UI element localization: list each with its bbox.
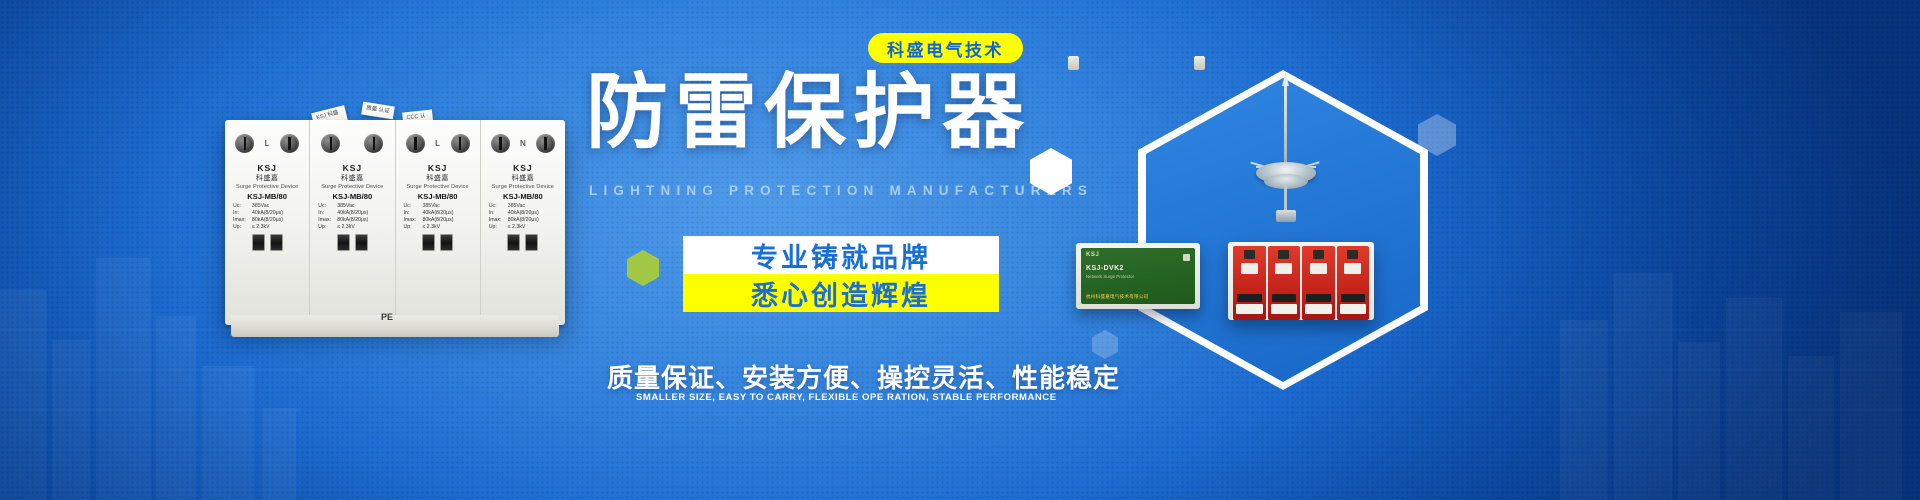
spec-key: In: <box>233 210 250 217</box>
surge-protector-rail: L KSJ 科盛嘉 Surge Protective Device KSJ-MB… <box>225 120 565 325</box>
indicator-window <box>270 234 283 251</box>
replace-warning: RED TO BE REPLACED <box>234 316 301 321</box>
spd-module: KSJ 科盛嘉 Surge Protective Device KSJ-MB/8… <box>310 120 395 325</box>
spec-row: Up:≤ 2.3kV <box>318 224 389 231</box>
brand-logo: KSJ <box>343 163 363 173</box>
pole-screw-icon <box>1313 250 1324 259</box>
brand-name-cn: 科盛嘉 <box>341 173 364 183</box>
screw-terminal-icon <box>235 134 254 153</box>
spd-module: L KSJ 科盛嘉 Surge Protective Device KSJ-MB… <box>396 120 481 325</box>
spec-row: Up:≤ 2.3kV <box>233 224 304 231</box>
spec-row: Uc:385Vac <box>318 203 389 210</box>
model-number: KSJ-MB/80 <box>503 192 543 201</box>
terminal-row <box>315 126 389 160</box>
replace-warning: RED TO BE REPLACED <box>489 316 556 321</box>
slogan-line-2: 悉心创造辉煌 <box>683 274 999 312</box>
indicator-window-group <box>252 234 283 251</box>
signal-box-subtitle: Network Surge Protector <box>1086 274 1190 279</box>
spec-value: 80kA(8/20μs) <box>252 217 283 224</box>
replace-warning: RED TO BE REPLACED <box>404 316 471 321</box>
device-type-label: Surge Protective Device <box>321 184 383 190</box>
model-number: KSJ-MB/80 <box>418 192 458 201</box>
mounting-ear-left <box>1068 56 1079 70</box>
indicator-window <box>252 234 265 251</box>
spec-value: 40kA(8/20μs) <box>423 210 454 217</box>
spec-list: Uc:385Vac In:40kA(8/20μs) Imax:80kA(8/20… <box>401 203 475 230</box>
device-type-label: Surge Protective Device <box>406 184 468 190</box>
spec-row: Up:≤ 2.3kV <box>404 224 475 231</box>
spd-module: N KSJ 科盛嘉 Surge Protective Device KSJ-MB… <box>481 120 565 325</box>
connector-pin-icon <box>1183 254 1190 261</box>
pole-base-bar <box>1271 304 1298 314</box>
spec-value: ≤ 2.3kV <box>337 224 355 231</box>
spec-row: In:40kA(8/20μs) <box>489 210 560 217</box>
terminal-label: L <box>265 139 270 148</box>
indicator-window <box>440 234 453 251</box>
signal-surge-protector-box: KSJ KSJ-DVK2 Network Surge Protector 杭州科… <box>1076 243 1200 309</box>
right-product-hexagon-group: KSJ KSJ-DVK2 Network Surge Protector 杭州科… <box>1020 30 1580 470</box>
spec-value: 40kA(8/20μs) <box>252 210 283 217</box>
spec-key: Imax: <box>233 217 250 224</box>
pole-window <box>1272 294 1297 302</box>
indicator-window <box>525 234 538 251</box>
red-spd-pole <box>1268 246 1301 320</box>
screw-terminal-icon <box>364 134 383 153</box>
spec-list: Uc:385Vac In:40kA(8/20μs) Imax:80kA(8/20… <box>230 203 304 230</box>
spec-row: In:40kA(8/20μs) <box>318 210 389 217</box>
indicator-window <box>337 234 350 251</box>
pole-label-plate <box>1241 263 1258 274</box>
pole-window <box>1306 294 1331 302</box>
spec-row: In:40kA(8/20μs) <box>404 210 475 217</box>
pole-base-bar <box>1340 304 1367 314</box>
spec-value: 385Vac <box>508 203 525 210</box>
brand-name-cn: 科盛嘉 <box>426 173 449 183</box>
model-number: KSJ-MB/80 <box>333 192 373 201</box>
pole-window <box>1341 294 1366 302</box>
spec-key: Up: <box>318 224 335 231</box>
terminal-row: L <box>230 126 304 160</box>
rod-base <box>1276 210 1296 222</box>
spec-list: Uc:385Vac In:40kA(8/20μs) Imax:80kA(8/20… <box>486 203 560 230</box>
brand-logo: KSJ <box>513 163 533 173</box>
indicator-window-group <box>507 234 538 251</box>
company-badge: 科盛电气技术 <box>868 33 1023 63</box>
spec-key: Up: <box>489 224 506 231</box>
spec-key: Up: <box>404 224 421 231</box>
spec-row: Up:≤ 2.3kV <box>489 224 560 231</box>
rod-mast <box>1284 78 1287 170</box>
indicator-window <box>422 234 435 251</box>
spec-value: 40kA(8/20μs) <box>337 210 368 217</box>
spec-row: Imax:80kA(8/20μs) <box>318 217 389 224</box>
indicator-window-group <box>422 234 453 251</box>
screw-terminal-icon <box>321 134 340 153</box>
indicator-window <box>507 234 520 251</box>
replace-warning: RED TO BE REPLACED <box>319 316 386 321</box>
red-spd-pole <box>1302 246 1335 320</box>
terminal-row: N <box>486 126 560 160</box>
spec-key: In: <box>318 210 335 217</box>
pole-screw-icon <box>1347 250 1358 259</box>
pole-label-plate <box>1310 263 1327 274</box>
slogan-block: 专业铸就品牌 悉心创造辉煌 <box>683 236 999 312</box>
pole-screw-icon <box>1244 250 1255 259</box>
lightning-rod-icon <box>1256 78 1316 228</box>
red-spd-pole <box>1337 246 1370 320</box>
pole-window <box>1237 294 1262 302</box>
spec-key: Up: <box>233 224 250 231</box>
spec-value: ≤ 2.3kV <box>252 224 270 231</box>
product-tag-2: 质量 认证 <box>361 102 395 120</box>
spec-row: Imax:80kA(8/20μs) <box>489 217 560 224</box>
screw-terminal-icon <box>406 134 425 153</box>
brand-name-cn: 科盛嘉 <box>256 173 279 183</box>
screw-terminal-icon <box>280 134 299 153</box>
spec-value: 385Vac <box>337 203 354 210</box>
brand-logo: KSJ <box>428 163 448 173</box>
indicator-window-group <box>337 234 368 251</box>
pole-label-plate <box>1275 263 1292 274</box>
model-number: KSJ-MB/80 <box>247 192 287 201</box>
spec-value: 385Vac <box>252 203 269 210</box>
spec-value: 40kA(8/20μs) <box>508 210 539 217</box>
signal-box-brand: KSJ <box>1086 252 1190 258</box>
spec-row: Uc:385Vac <box>489 203 560 210</box>
hexagon-accent-small-icon <box>1030 148 1072 195</box>
spec-key: Imax: <box>318 217 335 224</box>
product-image-group: KSJ 科盛嘉 质量 认证 CCC 认证 L KSJ 科盛嘉 Surge Pro… <box>225 120 565 335</box>
screw-terminal-icon <box>491 134 510 153</box>
indicator-window <box>355 234 368 251</box>
pole-base-bar <box>1236 304 1263 314</box>
spec-key: Uc: <box>233 203 250 210</box>
pole-base-bar <box>1305 304 1332 314</box>
spec-row: Uc:385Vac <box>404 203 475 210</box>
spec-key: Uc: <box>489 203 506 210</box>
spec-value: ≤ 2.3kV <box>423 224 441 231</box>
page-subtitle-en: LIGHTNING PROTECTION MANUFACTURERS <box>589 183 1093 198</box>
red-surge-protector-device <box>1228 242 1374 320</box>
pcb-face: KSJ KSJ-DVK2 Network Surge Protector 杭州科… <box>1081 248 1195 304</box>
terminal-label: L <box>435 139 440 148</box>
promo-banner: KSJ 科盛嘉 质量 认证 CCC 认证 L KSJ 科盛嘉 Surge Pro… <box>0 0 1920 500</box>
spec-key: Uc: <box>318 203 335 210</box>
slogan-line-1: 专业铸就品牌 <box>683 236 999 274</box>
feature-list-en: SMALLER SIZE, EASY TO CARRY, FLEXIBLE OP… <box>636 392 1057 403</box>
spec-value: 80kA(8/20μs) <box>337 217 368 224</box>
spec-value: 80kA(8/20μs) <box>508 217 539 224</box>
spec-value: ≤ 2.3kV <box>508 224 526 231</box>
spec-key: In: <box>404 210 421 217</box>
device-type-label: Surge Protective Device <box>492 184 554 190</box>
spd-module: L KSJ 科盛嘉 Surge Protective Device KSJ-MB… <box>225 120 310 325</box>
red-spd-pole <box>1233 246 1266 320</box>
spec-row: Imax:80kA(8/20μs) <box>404 217 475 224</box>
spec-value: 80kA(8/20μs) <box>423 217 454 224</box>
spec-row: Imax:80kA(8/20μs) <box>233 217 304 224</box>
pe-terminal-label: PE <box>381 312 393 322</box>
device-type-label: Surge Protective Device <box>236 184 298 190</box>
terminal-label: N <box>520 139 526 148</box>
spec-key: In: <box>489 210 506 217</box>
screw-terminal-icon <box>536 134 555 153</box>
spec-list: Uc:385Vac In:40kA(8/20μs) Imax:80kA(8/20… <box>315 203 389 230</box>
mounting-ear-right <box>1194 56 1205 70</box>
signal-box-company-cn: 杭州科盛嘉电气技术有限公司 <box>1086 294 1148 300</box>
brand-name-cn: 科盛嘉 <box>512 173 535 183</box>
spec-key: Imax: <box>489 217 506 224</box>
hexagon-accent-small-icon <box>1092 330 1118 359</box>
spec-key: Uc: <box>404 203 421 210</box>
pole-screw-icon <box>1278 250 1289 259</box>
signal-box-model: KSJ-DVK2 <box>1086 265 1190 272</box>
brand-logo: KSJ <box>257 163 277 173</box>
page-title: 防雷保护器 <box>586 72 1006 154</box>
spec-row: In:40kA(8/20μs) <box>233 210 304 217</box>
rod-stem <box>1284 184 1287 212</box>
spec-key: Imax: <box>404 217 421 224</box>
spec-value: 385Vac <box>423 203 440 210</box>
green-hexagon-accent-icon <box>627 250 659 286</box>
pole-label-plate <box>1344 263 1361 274</box>
screw-terminal-icon <box>451 134 470 153</box>
company-badge-label: 科盛电气技术 <box>887 36 1004 61</box>
spec-row: Uc:385Vac <box>233 203 304 210</box>
terminal-row: L <box>401 126 475 160</box>
